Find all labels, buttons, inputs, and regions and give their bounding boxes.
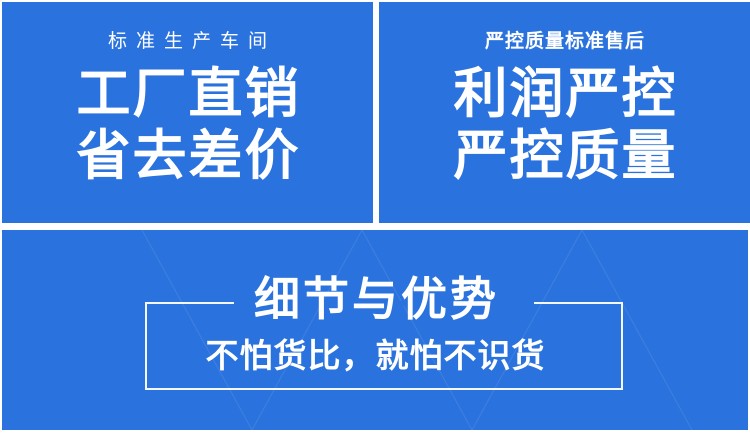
feature-panel-factory-direct: 标准生产车间 工厂直销 省去差价 xyxy=(2,2,373,223)
panel-right-headline-line2: 严控质量 xyxy=(452,125,678,187)
feature-panel-quality-control: 严控质量标准售后 利润严控 严控质量 xyxy=(379,2,750,223)
details-and-advantages-panel: 细节与优势 不怕货比，就怕不识货 xyxy=(2,230,748,430)
promo-banner: 标准生产车间 工厂直销 省去差价 严控质量标准售后 利润严控 严控质量 细节与优… xyxy=(0,0,750,440)
details-title: 细节与优势 xyxy=(2,270,748,328)
panel-right-headline-line1: 利润严控 xyxy=(452,63,678,125)
panel-right-eyebrow: 严控质量标准售后 xyxy=(484,32,645,51)
panel-left-headline-line2: 省去差价 xyxy=(75,125,301,187)
panel-left-eyebrow: 标准生产车间 xyxy=(99,32,276,51)
panel-left-headline-line1: 工厂直销 xyxy=(75,63,301,125)
details-subtitle: 不怕货比，就怕不识货 xyxy=(2,336,748,376)
